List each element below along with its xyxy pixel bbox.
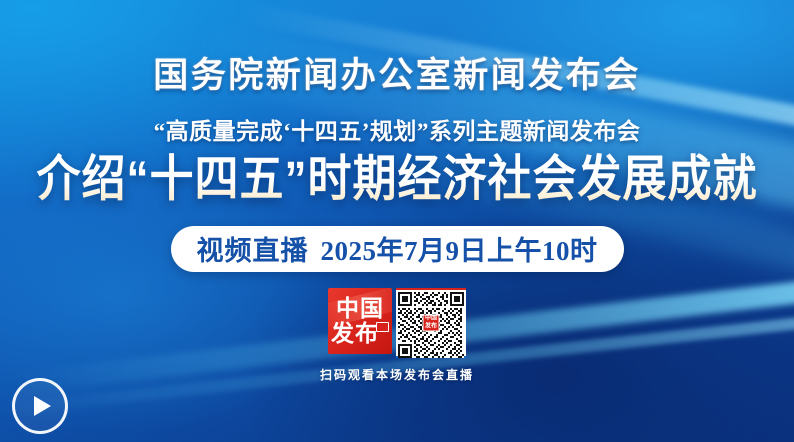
qr-code[interactable]: 中国 发布 — [396, 288, 466, 358]
live-broadcast-badge: 视频直播 2025年7月9日上午10时 — [171, 226, 624, 272]
play-button[interactable] — [12, 378, 68, 434]
series-subtitle: “高质量完成‘十四五’规划”系列主题新闻发布会 — [154, 119, 641, 144]
live-broadcast-datetime: 2025年7月9日上午10时 — [321, 229, 598, 268]
scan-caption: 扫码观看本场发布会直播 — [320, 366, 474, 383]
china-release-logo: 中国 发布 — [328, 288, 392, 354]
press-conference-poster: 国务院新闻办公室新闻发布会 “高质量完成‘十四五’规划”系列主题新闻发布会 介绍… — [0, 0, 794, 442]
play-icon — [34, 396, 51, 416]
brand-logo-line-2: 发布 — [331, 321, 379, 346]
qr-center-line-1: 中国 — [425, 315, 437, 323]
brand-logo-line-2-wrap: 发布 — [331, 321, 389, 346]
poster-content: 国务院新闻办公室新闻发布会 “高质量完成‘十四五’规划”系列主题新闻发布会 介绍… — [0, 0, 794, 442]
live-broadcast-label: 视频直播 — [197, 229, 309, 268]
page-title: 国务院新闻办公室新闻发布会 — [153, 58, 641, 95]
headline: 介绍“十四五”时期经济社会发展成就 — [37, 153, 758, 206]
qr-center-logo: 中国 发布 — [422, 314, 439, 331]
qr-row: 中国 发布 — [328, 288, 466, 358]
brand-logo-line-1: 中国 — [336, 296, 384, 321]
qr-center-line-2: 发布 — [425, 323, 437, 331]
flag-icon — [376, 322, 389, 332]
qr-section: 中国 发布 — [320, 288, 474, 383]
